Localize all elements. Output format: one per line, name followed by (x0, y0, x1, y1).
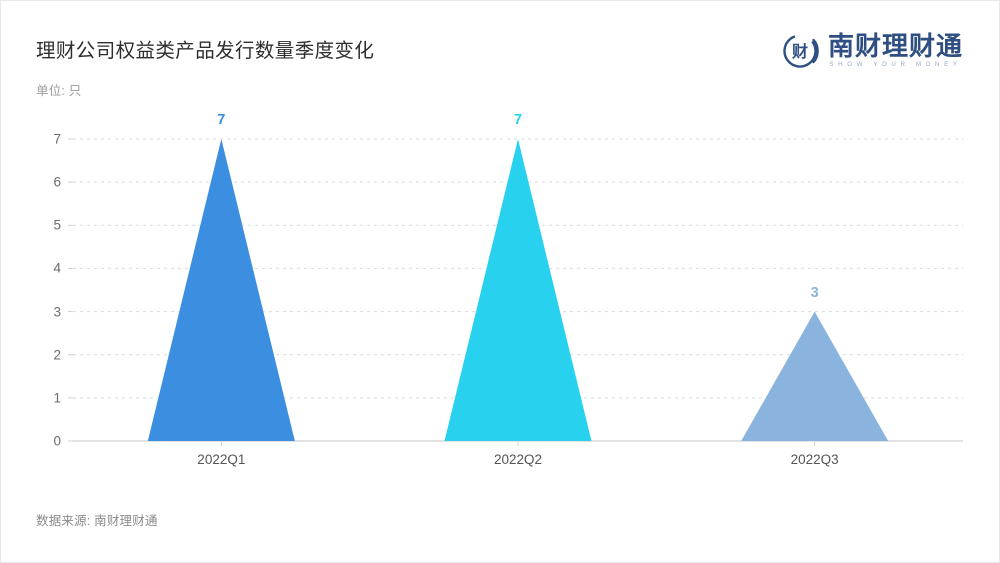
y-axis-tick-label: 6 (31, 175, 61, 190)
bar-triangle[interactable] (445, 139, 592, 441)
plot-svg (1, 1, 1000, 563)
bar-value-label: 3 (811, 285, 819, 301)
y-axis-tick-label: 7 (31, 132, 61, 147)
y-axis-tick-label: 2 (31, 347, 61, 362)
x-axis-tick-label: 2022Q2 (494, 452, 542, 467)
bar-value-label: 7 (217, 112, 225, 128)
y-axis-tick-label: 4 (31, 261, 61, 276)
y-axis-tick-label: 1 (31, 390, 61, 405)
bar-value-label: 7 (514, 112, 522, 128)
y-axis-tick-label: 3 (31, 304, 61, 319)
x-axis-tick-label: 2022Q3 (791, 452, 839, 467)
bar-triangle[interactable] (741, 312, 888, 441)
x-axis-tick-label: 2022Q1 (197, 452, 245, 467)
bar-triangle[interactable] (148, 139, 295, 441)
source-note: 数据来源: 南财理财通 (36, 510, 158, 529)
y-axis-tick-label: 5 (31, 218, 61, 233)
chart-canvas: 理财公司权益类产品发行数量季度变化 单位: 只 财 南财理财通 SHOW YOU… (0, 0, 1000, 563)
y-axis-tick-label: 0 (31, 434, 61, 449)
bar-chart-plot: 012345672022Q172022Q272022Q33 (1, 1, 1000, 563)
